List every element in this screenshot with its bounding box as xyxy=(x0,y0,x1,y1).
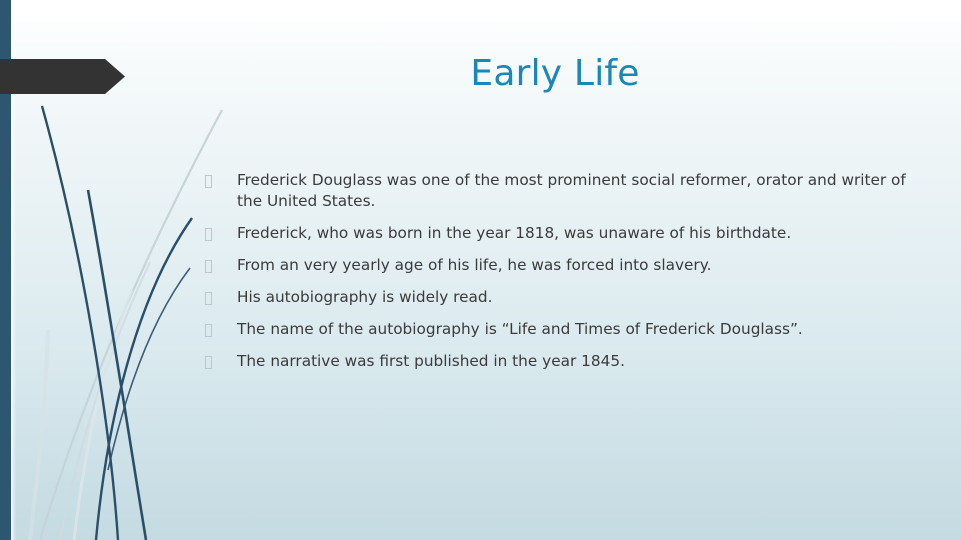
list-item-text: The narrative was first published in the… xyxy=(237,351,917,372)
page-title: Early Life xyxy=(160,52,950,96)
bullet-box-icon xyxy=(205,260,212,273)
list-item: His autobiography is widely read. xyxy=(205,287,917,308)
list-item-text: His autobiography is widely read. xyxy=(237,287,917,308)
list-item: From an very yearly age of his life, he … xyxy=(205,255,917,276)
slide-canvas: Early Life Frederick Douglass was one of… xyxy=(0,0,961,540)
list-item: The narrative was first published in the… xyxy=(205,351,917,372)
bullet-box-icon xyxy=(205,228,212,241)
list-item-text: Frederick Douglass was one of the most p… xyxy=(237,170,917,212)
list-item: The name of the autobiography is “Life a… xyxy=(205,319,917,340)
bullet-box-icon xyxy=(205,324,212,337)
list-item-text: From an very yearly age of his life, he … xyxy=(237,255,917,276)
list-item: Frederick, who was born in the year 1818… xyxy=(205,223,917,244)
bullet-box-icon xyxy=(205,175,212,188)
top-white-band xyxy=(0,0,961,21)
chevron-banner xyxy=(0,59,125,94)
bullet-box-icon xyxy=(205,356,212,369)
bullet-list: Frederick Douglass was one of the most p… xyxy=(205,170,917,372)
list-item-text: Frederick, who was born in the year 1818… xyxy=(237,223,917,244)
list-item: Frederick Douglass was one of the most p… xyxy=(205,170,917,212)
list-item-text: The name of the autobiography is “Life a… xyxy=(237,319,917,340)
bullet-box-icon xyxy=(205,292,212,305)
